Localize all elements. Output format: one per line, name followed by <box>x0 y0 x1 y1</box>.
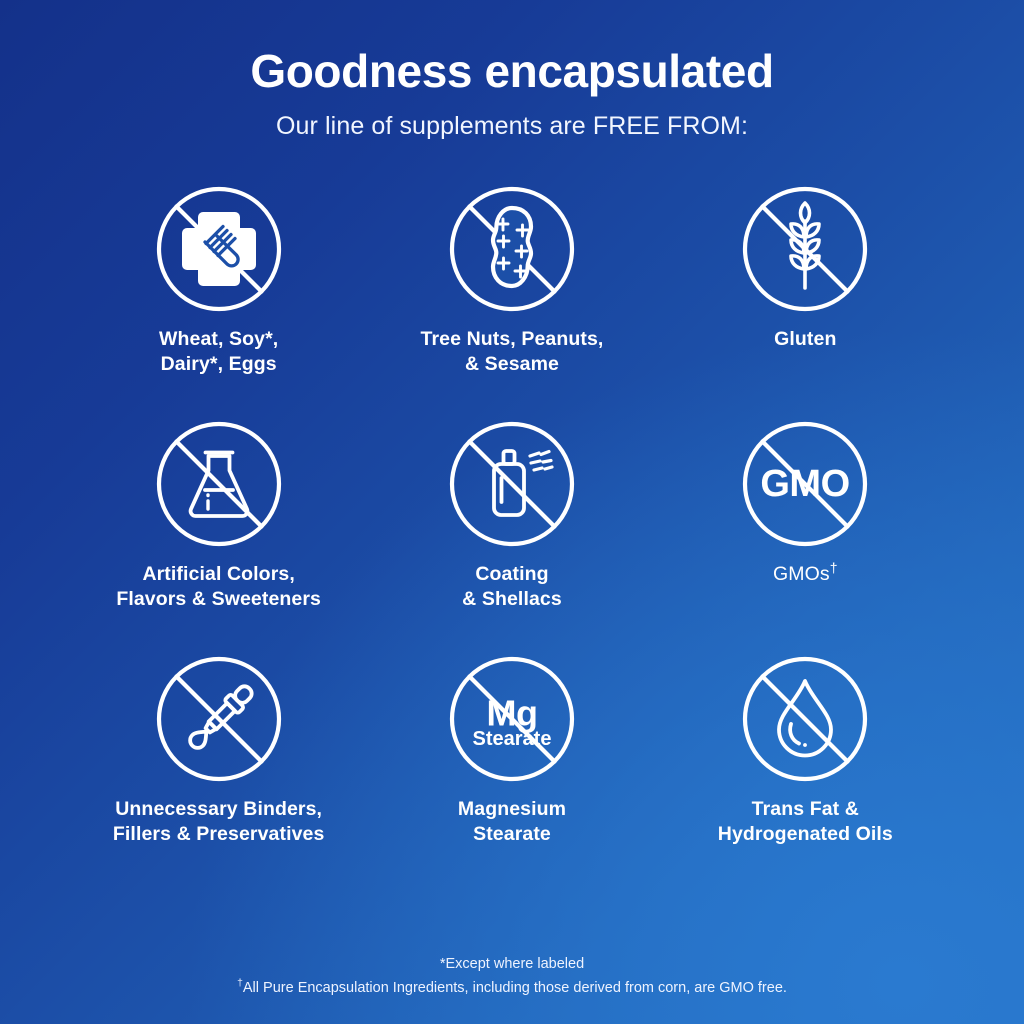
poster-header: Goodness encapsulated Our line of supple… <box>0 0 1024 141</box>
footnotes: *Except where labeled †All Pure Encapsul… <box>0 953 1024 1000</box>
stearate-inner-text: Stearate <box>473 728 552 750</box>
badge-label: Trans Fat & Hydrogenated Oils <box>718 797 893 847</box>
page-subtitle: Our line of supplements are FREE FROM: <box>0 112 1024 141</box>
badge-label: Artificial Colors, Flavors & Sweeteners <box>116 562 321 612</box>
no-mg-stearate-text-icon: Mg Stearate <box>448 655 576 783</box>
badge-label: Coating & Shellacs <box>462 562 562 612</box>
footnote-dagger-text: All Pure Encapsulation Ingredients, incl… <box>243 980 787 996</box>
badge-label: GMOs† <box>773 562 838 587</box>
badge-item-artificial-colors: Artificial Colors, Flavors & Sweeteners <box>72 420 365 655</box>
no-peanut-icon <box>448 185 576 313</box>
badge-item-gluten: Gluten <box>659 185 952 420</box>
no-flask-icon <box>155 420 283 548</box>
badge-label: Magnesium Stearate <box>458 797 566 847</box>
free-from-grid: Wheat, Soy*, Dairy*, Eggs <box>72 185 952 890</box>
badge-label: Wheat, Soy*, Dairy*, Eggs <box>159 327 278 377</box>
badge-item-nuts: Tree Nuts, Peanuts, & Sesame <box>365 185 658 420</box>
badge-label: Gluten <box>774 327 836 352</box>
footnote-dagger: †All Pure Encapsulation Ingredients, inc… <box>0 977 1024 1000</box>
promo-poster: Goodness encapsulated Our line of supple… <box>0 0 1024 1024</box>
no-gmo-text-icon: GMO <box>741 420 869 548</box>
footnote-asterisk: *Except where labeled <box>0 953 1024 976</box>
gmo-inner-text: GMO <box>761 463 850 505</box>
badge-item-trans-fat: Trans Fat & Hydrogenated Oils <box>659 655 952 890</box>
badge-item-binders: Unnecessary Binders, Fillers & Preservat… <box>72 655 365 890</box>
badge-label-text: GMOs <box>773 563 830 585</box>
no-fork-in-cross-icon <box>155 185 283 313</box>
page-title: Goodness encapsulated <box>0 44 1024 98</box>
no-oil-droplet-icon <box>741 655 869 783</box>
no-spray-can-icon <box>448 420 576 548</box>
badge-item-gmo: GMO GMOs† <box>659 420 952 655</box>
badge-item-magnesium-stearate: Mg Stearate Magnesium Stearate <box>365 655 658 890</box>
no-wheat-stalk-icon <box>741 185 869 313</box>
badge-item-allergens: Wheat, Soy*, Dairy*, Eggs <box>72 185 365 420</box>
badge-label-dagger: † <box>830 560 838 576</box>
badge-label: Tree Nuts, Peanuts, & Sesame <box>421 327 604 377</box>
badge-label: Unnecessary Binders, Fillers & Preservat… <box>113 797 325 847</box>
badge-item-coating: Coating & Shellacs <box>365 420 658 655</box>
no-dropper-icon <box>155 655 283 783</box>
